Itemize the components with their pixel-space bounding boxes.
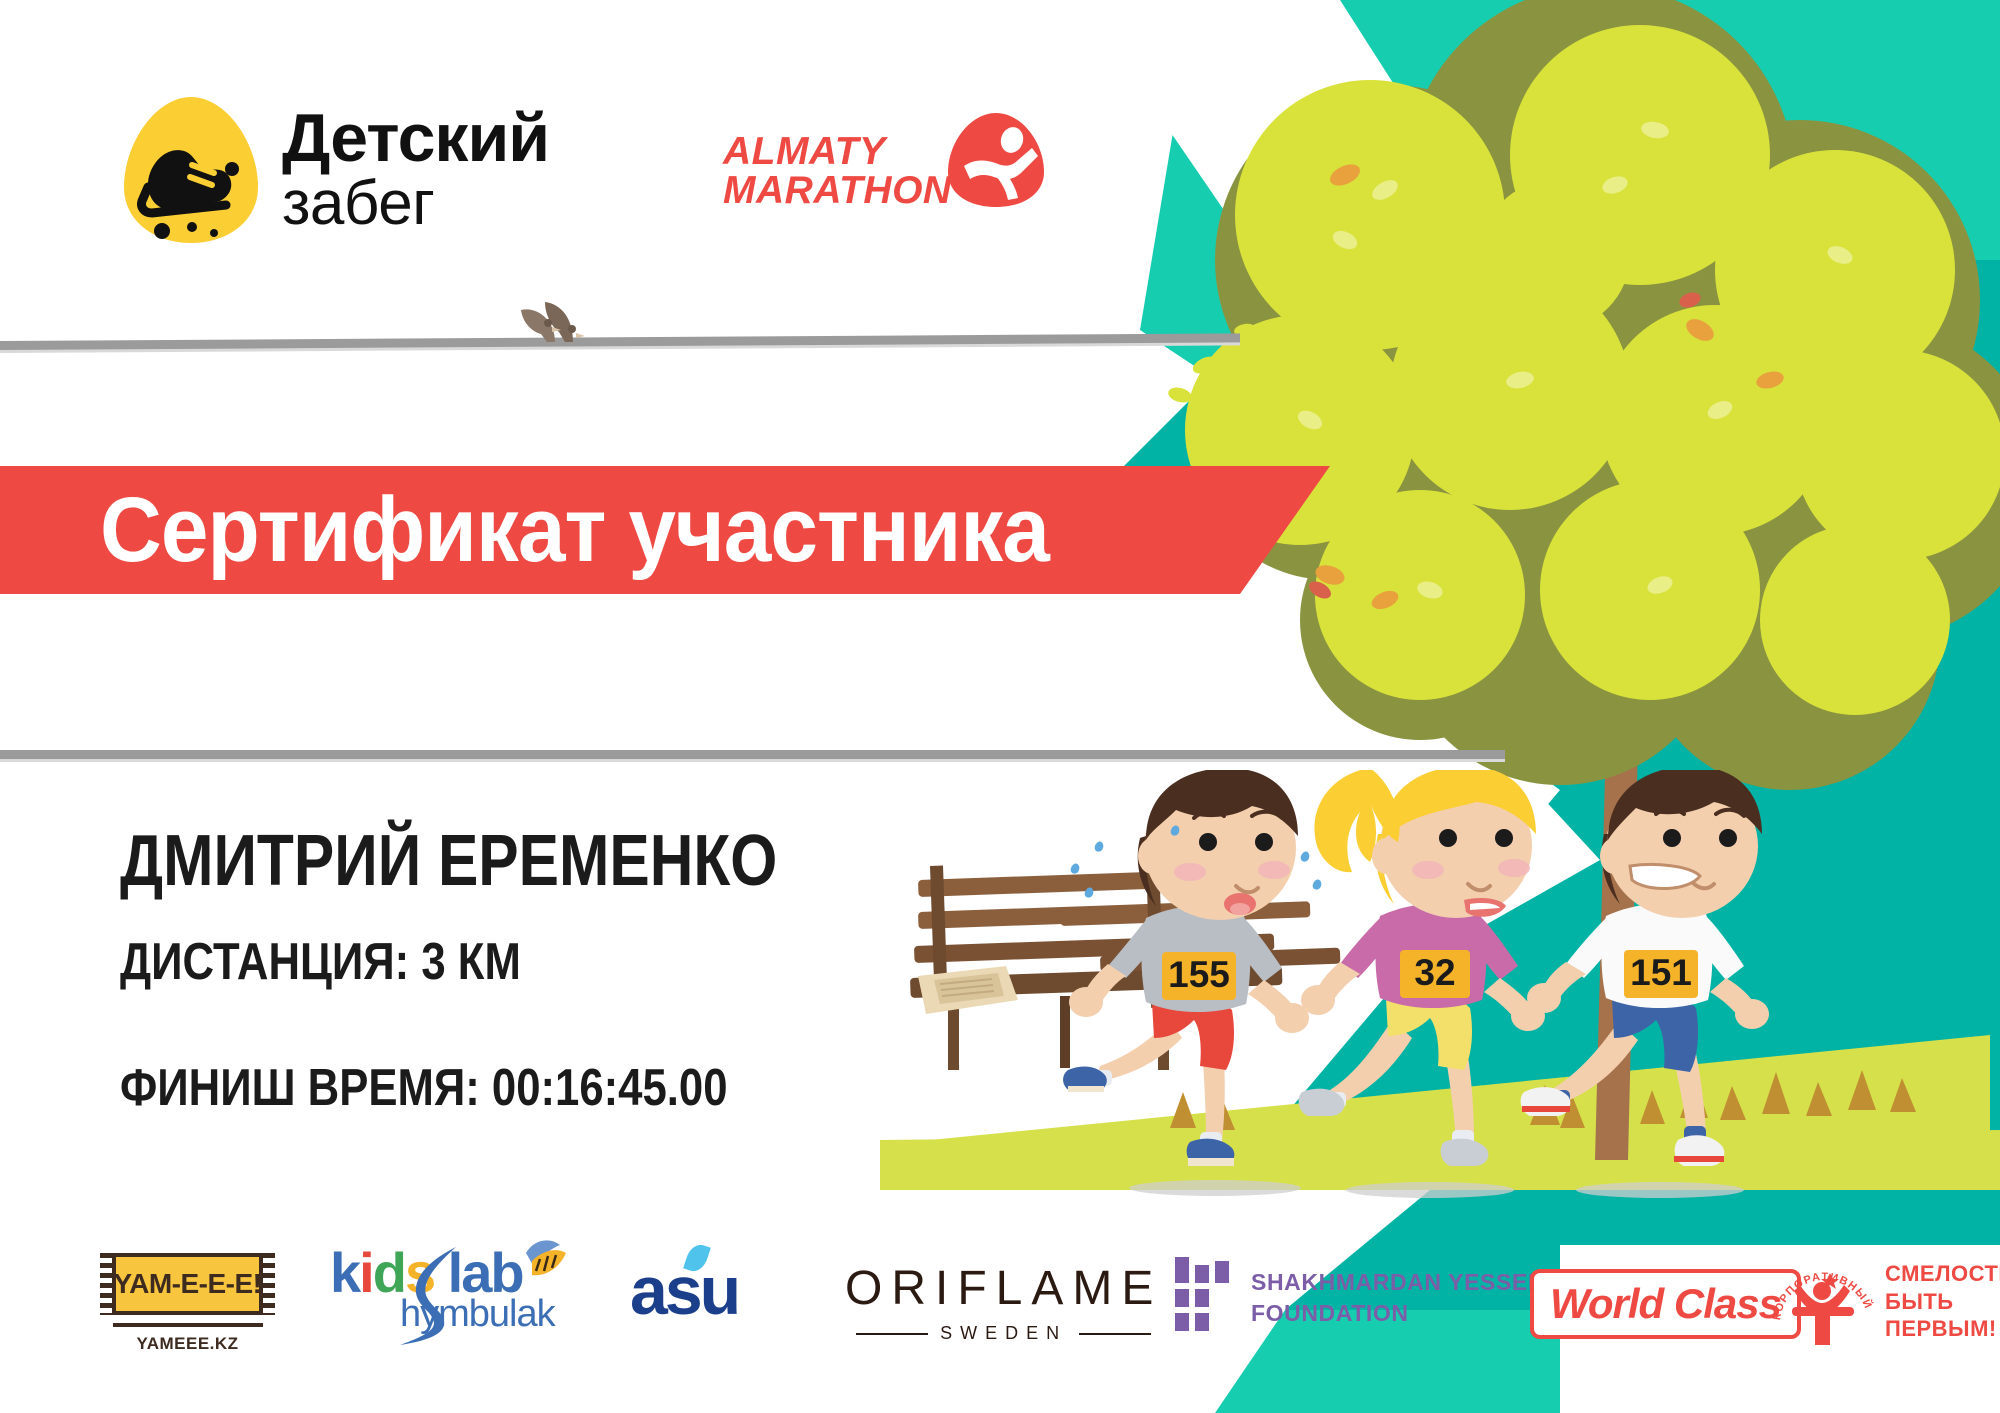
sponsor-yameee: YAM-E-E-E! YAMEEE.KZ [100,1253,275,1354]
almaty-marathon-wordmark: ALMATY MARATHON [723,110,952,210]
bib-number-2: 32 [1414,952,1455,993]
kids-logo-line2: забег [282,174,549,235]
kidslab-i: i [359,1241,373,1304]
divider-right [1079,1333,1151,1335]
almaty-logo-line1: ALMATY [723,132,952,171]
bee-icon [516,1237,568,1283]
sponsor-yameee-sub: YAMEEE.KZ [136,1334,238,1354]
candy-bar-icon: YAM-E-E-E! [100,1253,275,1315]
divider-line [0,750,1505,759]
kids-logo-line1: Детский [282,105,549,172]
kids-run-logo: Детский забег [122,95,549,245]
certificate: Детский забег ALMATY MARATHON Сертификат… [0,0,2000,1413]
runner-child-3: 151 [1521,770,1769,1166]
shoe-icon [122,95,260,245]
participant-distance: ДИСТАНЦИЯ: 3 КМ [120,932,777,992]
participant-finish-time: ФИНИШ ВРЕМЯ: 00:16:45.00 [120,1058,777,1118]
logo-row: Детский забег ALMATY MARATHON [0,0,2000,300]
certificate-banner: Сертификат участника [0,466,1330,594]
sponsor-smelost-line2: БЫТЬ [1885,1288,2000,1316]
sponsor-yameee-name: YAM-E-E-E! [100,1253,275,1315]
runner-child-2: 32 [1299,770,1545,1166]
page-title: Сертификат участника [100,478,1049,583]
kidslab-swoosh-icon [382,1241,492,1351]
sponsor-yessenov: SHAKHMARDAN YESSENOV FOUNDATION [1175,1265,1580,1331]
participant-info: ДМИТРИЙ ЕРЕМЕНКО ДИСТАНЦИЯ: 3 КМ ФИНИШ В… [120,820,903,1118]
sponsor-worldclass: World Class [1530,1269,1801,1339]
sponsor-worldclass-name: World Class [1550,1280,1781,1328]
divider-left [856,1333,928,1335]
bib-number-1: 155 [1168,954,1230,995]
runner-icon [946,110,1046,210]
almaty-logo-line2: MARATHON [723,171,952,210]
sponsor-smelost-line1: СМЕЛОСТЬ [1885,1260,2000,1288]
sponsor-kidslab: kids lab hymbulak [330,1245,565,1355]
sponsor-smelost-line3: ПЕРВЫМ! [1885,1315,2000,1343]
sponsor-asu: asu [630,1257,738,1325]
birds-icon [515,296,625,351]
brave-figure-icon: КОРПОРАТИВНЫЙ ФОНД [1770,1249,1875,1354]
kidslab-k: k [330,1241,359,1304]
almaty-marathon-logo: ALMATY MARATHON [723,110,1046,210]
sponsor-oriflame-sub: SWEDEN [940,1323,1067,1344]
running-children-illustration: 155 [900,770,1780,1220]
kids-run-wordmark: Детский забег [282,105,549,234]
participant-name: ДМИТРИЙ ЕРЕМЕНКО [120,820,777,902]
sponsor-smelost: КОРПОРАТИВНЫЙ ФОНД СМЕЛОСТЬ БЫТЬ ПЕРВЫМ! [1770,1249,2000,1354]
divider [113,1323,263,1327]
yessenov-mark-icon [1175,1265,1229,1331]
sponsor-oriflame: ORIFLAME SWEDEN [845,1265,1162,1344]
bib-number-3: 151 [1630,952,1692,993]
smelost-wordmark: СМЕЛОСТЬ БЫТЬ ПЕРВЫМ! [1885,1260,2000,1343]
sponsor-oriflame-name: ORIFLAME [845,1265,1162,1313]
sponsor-logos: YAM-E-E-E! YAMEEE.KZ kids lab hymbulak [0,1245,2000,1375]
asu-wordmark: asu [630,1257,738,1325]
